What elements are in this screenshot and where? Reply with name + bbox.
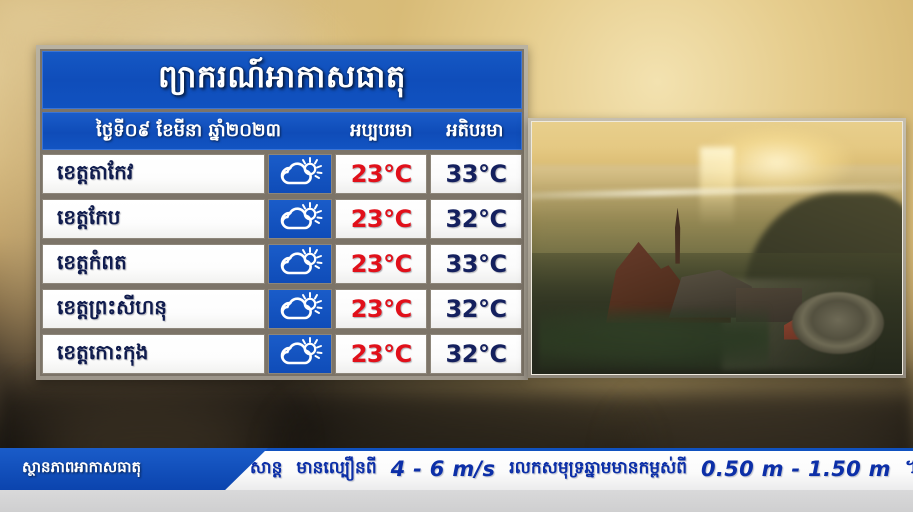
page-title: ព្យាករណ៍អាកាសធាតុ: [158, 58, 406, 103]
table-row: ខេត្តព្រះសីហនុ 23°C32°C: [42, 289, 522, 329]
weather-icon-cell: [268, 244, 333, 284]
photo-frame: [528, 118, 906, 378]
min-temp-cell: 23°C: [335, 154, 427, 194]
table-row: ខេត្តកែប 23°C32°C: [42, 199, 522, 239]
province-cell: ខេត្តកែប: [42, 199, 265, 239]
forecast-date-label: ថ្ងៃទី០៩ ខែមីនា ឆ្នាំ២០២៣: [43, 118, 334, 145]
partly-cloudy-sun-icon: [277, 292, 323, 326]
table-row: ខេត្តកំពត 23°C33°C: [42, 244, 522, 284]
ticker-wind-value: 4 - 6 m/s: [391, 457, 496, 481]
partly-cloudy-sun-icon: [277, 247, 323, 281]
partly-cloudy-sun-icon: [277, 157, 323, 191]
max-temp-cell: 33°C: [430, 244, 522, 284]
weather-icon-cell: [268, 289, 333, 329]
partly-cloudy-sun-icon-svg: [277, 292, 323, 322]
province-cell: ខេត្តកោះកុង: [42, 334, 265, 374]
ticker-content: សាន្ត មានល្បឿនពី 4 - 6 m/s រលកសមុទ្រឆ្នា…: [250, 448, 907, 490]
partly-cloudy-sun-icon-svg: [277, 157, 323, 187]
forecast-panel-inner: ព្យាករណ៍អាកាសធាតុ ថ្ងៃទី០៩ ខែមីនា ឆ្នាំ២…: [40, 49, 524, 376]
column-header-min: អប្បបរមា: [334, 118, 428, 145]
weather-icon-cell: [268, 154, 333, 194]
bottom-ticker: សាន្ត មានល្បឿនពី 4 - 6 m/s រលកសមុទ្រឆ្នា…: [0, 448, 913, 490]
weather-icon-cell: [268, 334, 333, 374]
ticker-end-mark: ។: [905, 455, 913, 483]
province-label: ខេត្តតាកែវ: [43, 159, 133, 189]
max-temp-cell: 32°C: [430, 334, 522, 374]
max-temp-cell: 32°C: [430, 289, 522, 329]
min-temp-cell: 23°C: [335, 289, 427, 329]
ticker-label-text: ស្ថានភាពអាកាសធាតុ: [0, 458, 141, 480]
partly-cloudy-sun-icon-svg: [277, 202, 323, 232]
province-cell: ខេត្តតាកែវ: [42, 154, 265, 194]
max-temp-cell: 33°C: [430, 154, 522, 194]
column-header-max: អតិបរមា: [429, 118, 521, 145]
table-row: ខេត្តកោះកុង 23°C32°C: [42, 334, 522, 374]
ticker-label-tab: ស្ថានភាពអាកាសធាតុ: [0, 448, 268, 490]
province-cell: ខេត្តព្រះសីហនុ: [42, 289, 265, 329]
province-label: ខេត្តព្រះសីហនុ: [43, 294, 167, 324]
province-label: ខេត្តកែប: [43, 204, 120, 234]
forecast-row-list: ខេត្តតាកែវ 23°C33°Cខេត្តកែប 23°C32°Cខេត្…: [42, 154, 522, 374]
partly-cloudy-sun-icon-svg: [277, 337, 323, 367]
province-label: ខេត្តកំពត: [43, 249, 127, 279]
partly-cloudy-sun-icon: [277, 337, 323, 371]
ticker-wind-prefix: មានល្បឿនពី: [296, 457, 376, 482]
weather-broadcast-screen: ព្យាករណ៍អាកាសធាតុ ថ្ងៃទី០៩ ខែមីនា ឆ្នាំ២…: [0, 0, 913, 512]
forecast-title-bar: ព្យាករណ៍អាកាសធាតុ: [42, 51, 522, 109]
bottom-safe-area: [0, 490, 913, 512]
min-temp-cell: 23°C: [335, 244, 427, 284]
partly-cloudy-sun-icon: [277, 202, 323, 236]
min-temp-cell: 23°C: [335, 199, 427, 239]
province-cell: ខេត្តកំពត: [42, 244, 265, 284]
partly-cloudy-sun-icon-svg: [277, 247, 323, 277]
ticker-wave-value: 0.50 m - 1.50 m: [701, 457, 891, 481]
weather-icon-cell: [268, 199, 333, 239]
province-label: ខេត្តកោះកុង: [43, 339, 148, 369]
scenery-photo: [531, 121, 903, 375]
forecast-panel: ព្យាករណ៍អាកាសធាតុ ថ្ងៃទី០៩ ខែមីនា ឆ្នាំ២…: [36, 45, 528, 380]
table-row: ខេត្តតាកែវ 23°C33°C: [42, 154, 522, 194]
photo-fountain: [792, 292, 884, 354]
ticker-wave-prefix: រលកសមុទ្រឆ្នាមមានកម្ពស់ពី: [509, 457, 687, 482]
forecast-subheader-row: ថ្ងៃទី០៩ ខែមីនា ឆ្នាំ២០២៣ អប្បបរមា អតិបរ…: [42, 112, 522, 150]
max-temp-cell: 32°C: [430, 199, 522, 239]
photo-trees: [539, 299, 769, 369]
min-temp-cell: 23°C: [335, 334, 427, 374]
